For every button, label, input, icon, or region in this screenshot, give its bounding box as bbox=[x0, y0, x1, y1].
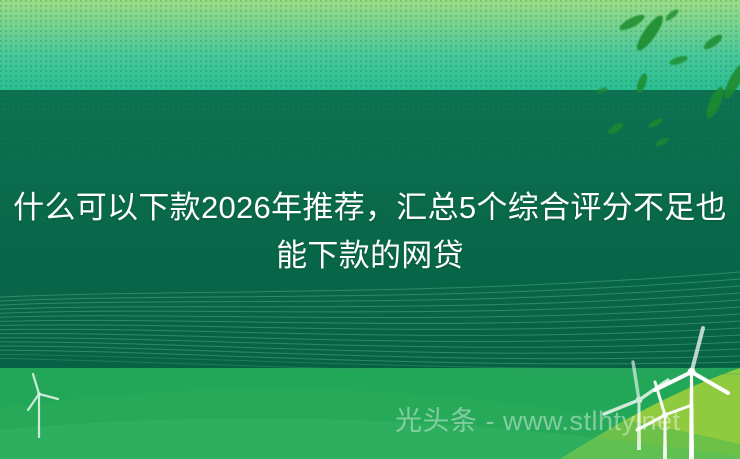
site-watermark: 光头条 - www.stlhty.net bbox=[395, 404, 681, 438]
page-title: 什么可以下款2026年推荐，汇总5个综合评分不足也能下款的网贷 bbox=[0, 184, 740, 280]
top-gradient-band bbox=[0, 0, 740, 90]
promo-poster: 什么可以下款2026年推荐，汇总5个综合评分不足也能下款的网贷 光头条 - ww… bbox=[0, 0, 740, 459]
